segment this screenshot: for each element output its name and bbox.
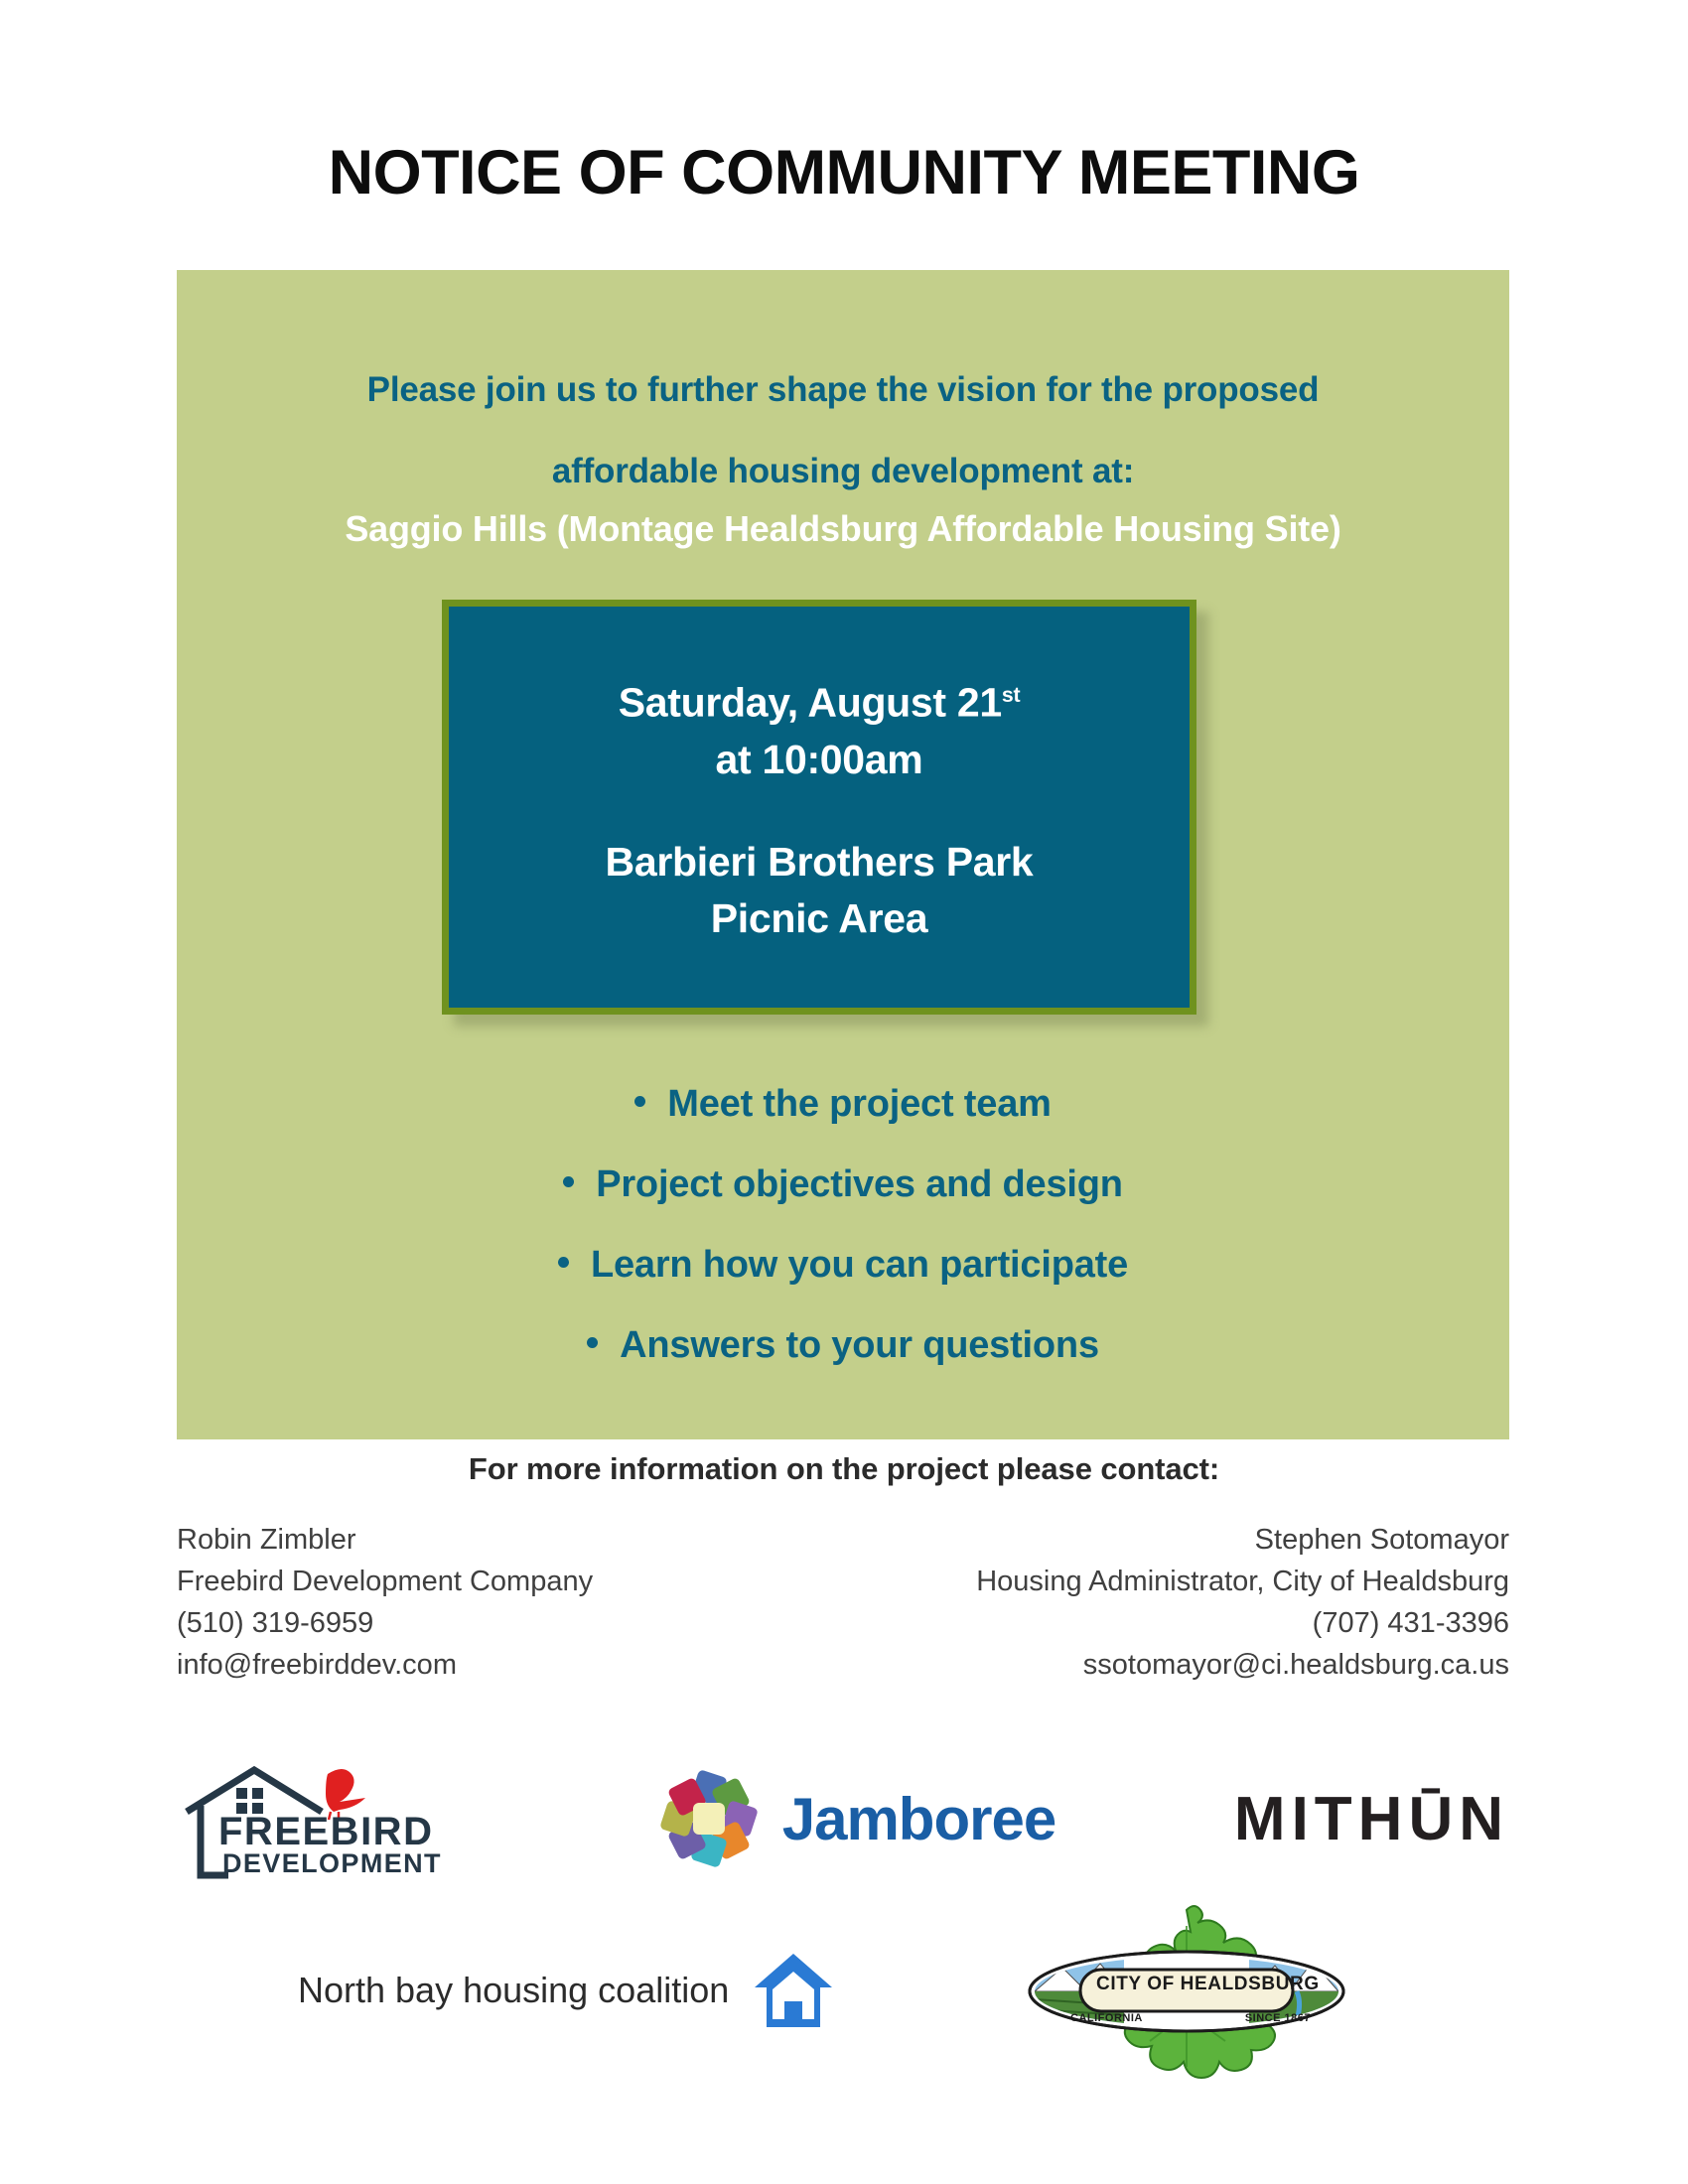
- contact-heading: For more information on the project plea…: [0, 1451, 1688, 1487]
- event-date-ordinal: st: [1002, 683, 1020, 707]
- bullet-label: Project objectives and design: [596, 1163, 1123, 1205]
- city-of-healdsburg-logo: CITY OF HEALDSBURG CALIFORNIA SINCE 1867: [1023, 1896, 1350, 2085]
- house-icon: [751, 1948, 836, 2033]
- contact-right-column: Stephen Sotomayor Housing Administrator,…: [976, 1519, 1509, 1686]
- freebird-development-logo: FREEBIRD DEVELOPMENT: [177, 1754, 475, 1883]
- bullet-dot-icon: [563, 1176, 574, 1187]
- intro-line-1: Please join us to further shape the visi…: [367, 370, 1320, 409]
- healdsburg-since-label: SINCE 1867: [1245, 2012, 1311, 2024]
- contact-phone: (510) 319-6959: [177, 1602, 593, 1644]
- logo-row-primary: FREEBIRD DEVELOPMENT Jamboree: [177, 1739, 1509, 1898]
- contact-left-column: Robin Zimbler Freebird Development Compa…: [177, 1519, 593, 1686]
- green-content-panel: Please join us to further shape the visi…: [177, 270, 1509, 1439]
- intro-text: Please join us to further shape the visi…: [177, 349, 1509, 512]
- contact-name: Robin Zimbler: [177, 1519, 593, 1561]
- bullet-dot-icon: [587, 1337, 598, 1348]
- bullet-dot-icon: [634, 1096, 645, 1107]
- event-venue-line-1: Barbieri Brothers Park: [606, 839, 1034, 885]
- intro-line-2: affordable housing development at:: [177, 431, 1509, 512]
- contact-name: Stephen Sotomayor: [976, 1519, 1509, 1561]
- contact-email[interactable]: info@freebirddev.com: [177, 1644, 593, 1686]
- contact-org: Freebird Development Company: [177, 1561, 593, 1602]
- north-bay-wordmark: North bay housing coalition: [298, 1970, 729, 2011]
- contact-block: Robin Zimbler Freebird Development Compa…: [177, 1519, 1509, 1686]
- event-time: at 10:00am: [716, 737, 923, 782]
- bullet-label: Answers to your questions: [620, 1324, 1099, 1366]
- page-title: NOTICE OF COMMUNITY MEETING: [0, 137, 1688, 208]
- mithun-logo: MITHŪN: [1234, 1784, 1509, 1854]
- contact-org: Housing Administrator, City of Healdsbur…: [976, 1561, 1509, 1602]
- bullet-label: Meet the project team: [667, 1083, 1051, 1125]
- event-details-box: Saturday, August 21st at 10:00am Barbier…: [442, 600, 1196, 1015]
- list-item: Meet the project team: [177, 1064, 1509, 1145]
- agenda-bullet-list: Meet the project team Project objectives…: [177, 1064, 1509, 1386]
- contact-phone: (707) 431-3396: [976, 1602, 1509, 1644]
- list-item: Project objectives and design: [177, 1145, 1509, 1225]
- site-name-line: Saggio Hills (Montage Healdsburg Afforda…: [177, 508, 1509, 550]
- healdsburg-badge-text: CITY OF HEALDSBURG: [1096, 1974, 1320, 1995]
- logo-row-secondary: North bay housing coalition: [298, 1896, 1350, 2085]
- jamboree-wordmark: Jamboree: [782, 1785, 1055, 1853]
- bullet-dot-icon: [558, 1257, 569, 1268]
- event-venue-line-2: Picnic Area: [711, 895, 928, 941]
- flyer-page: NOTICE OF COMMUNITY MEETING Please join …: [0, 0, 1688, 2184]
- event-spacer: [606, 788, 1034, 834]
- jamboree-pinwheel-icon: [653, 1763, 765, 1874]
- freebird-subwordmark: DEVELOPMENT: [222, 1848, 442, 1879]
- contact-email[interactable]: ssotomayor@ci.healdsburg.ca.us: [976, 1644, 1509, 1686]
- healdsburg-state-label: CALIFORNIA: [1070, 2012, 1143, 2024]
- list-item: Learn how you can participate: [177, 1225, 1509, 1305]
- event-text-block: Saturday, August 21st at 10:00am Barbier…: [606, 667, 1034, 947]
- bullet-label: Learn how you can participate: [591, 1244, 1128, 1286]
- event-date: Saturday, August 21: [619, 680, 1002, 726]
- jamboree-logo: Jamboree: [653, 1763, 1055, 1874]
- list-item: Answers to your questions: [177, 1305, 1509, 1386]
- north-bay-housing-coalition-logo: North bay housing coalition: [298, 1948, 836, 2033]
